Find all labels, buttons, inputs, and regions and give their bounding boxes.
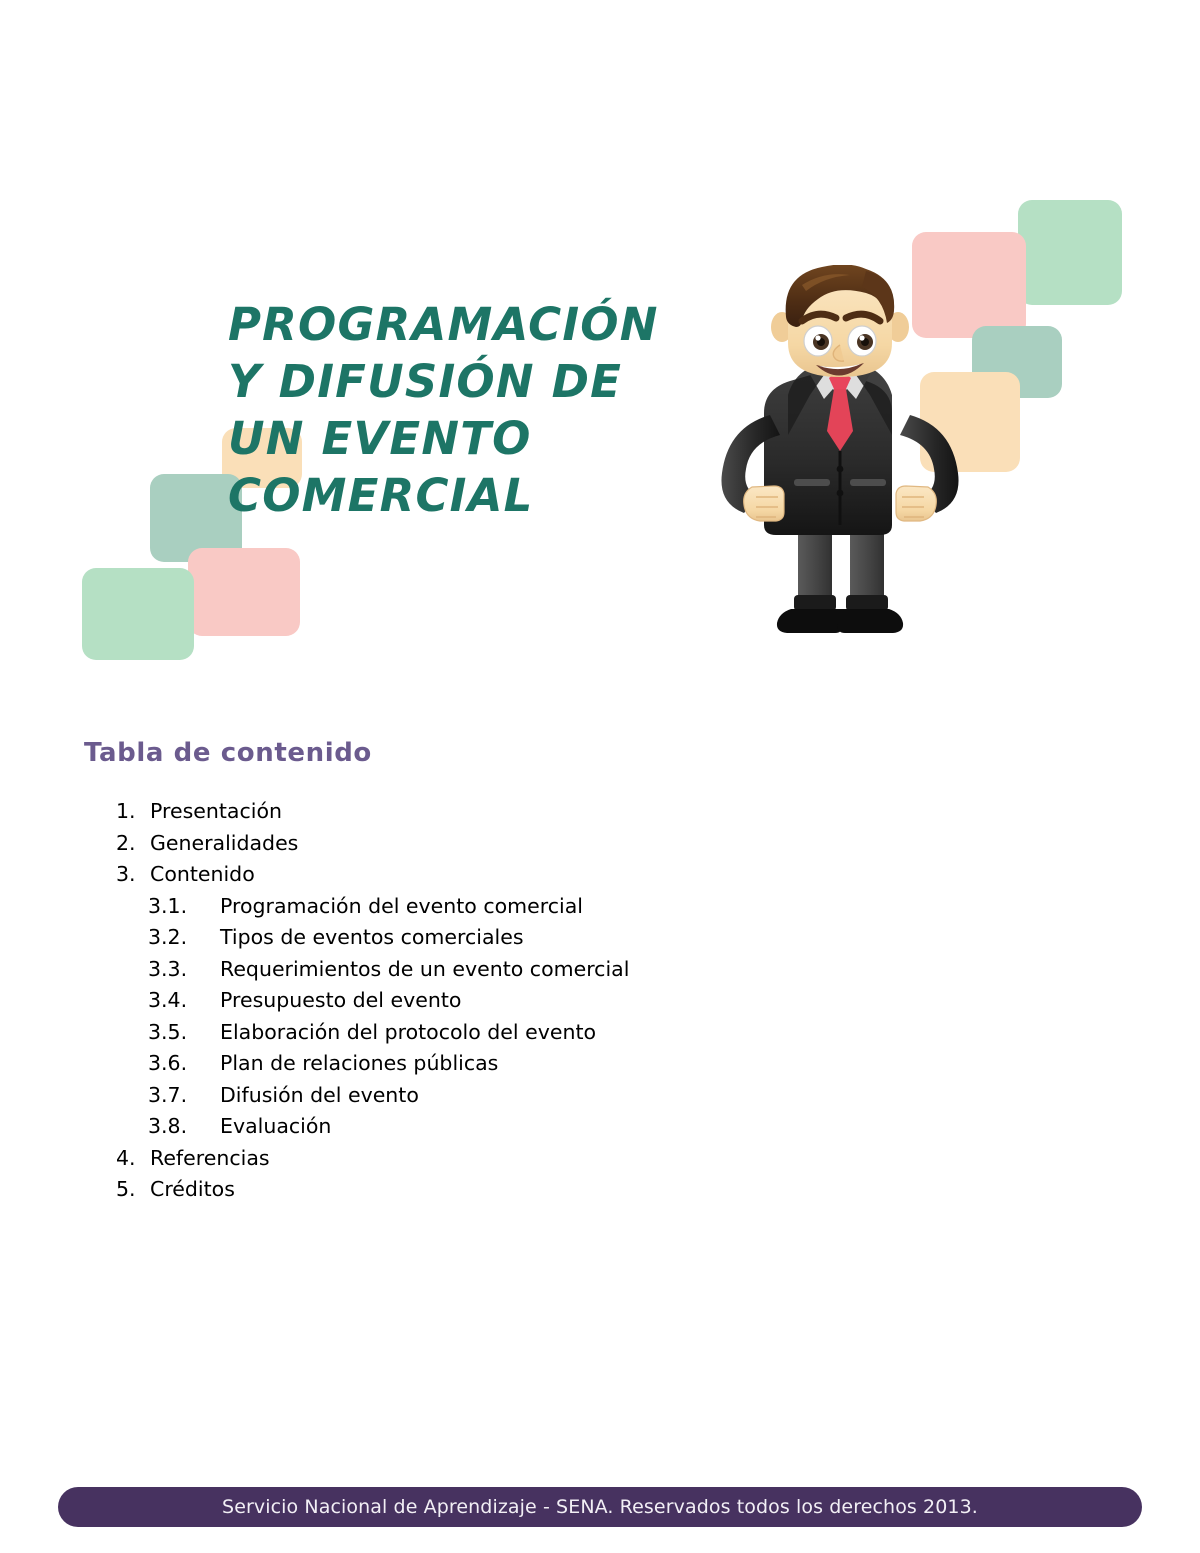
toc-item-label: Contenido bbox=[150, 859, 255, 891]
deco-square-mint-top-right bbox=[1018, 200, 1122, 305]
toc-item-label: Requerimientos de un evento comercial bbox=[220, 954, 629, 986]
toc-item-number: 3.8. bbox=[148, 1111, 220, 1143]
toc-item-label: Tipos de eventos comerciales bbox=[220, 922, 524, 954]
toc-list: 1.Presentación2.Generalidades3.Contenido… bbox=[84, 796, 1084, 1206]
toc-item-number: 3.7. bbox=[148, 1080, 220, 1112]
toc-item-label: Presentación bbox=[150, 796, 282, 828]
deco-square-pink-left bbox=[188, 548, 300, 636]
toc-heading: Tabla de contenido bbox=[84, 738, 1084, 768]
title-line-2: Y DIFUSIÓN DE bbox=[228, 353, 708, 410]
table-of-contents: Tabla de contenido 1.Presentación2.Gener… bbox=[84, 738, 1084, 1206]
toc-item-number: 3.6. bbox=[148, 1048, 220, 1080]
toc-item[interactable]: 3.7.Difusión del evento bbox=[84, 1080, 1084, 1112]
toc-item-number: 4. bbox=[116, 1143, 150, 1175]
toc-item-label: Créditos bbox=[150, 1174, 235, 1206]
footer-bar: Servicio Nacional de Aprendizaje - SENA.… bbox=[58, 1487, 1142, 1527]
toc-item-number: 2. bbox=[116, 828, 150, 860]
toc-item-number: 3.2. bbox=[148, 922, 220, 954]
hand-right bbox=[896, 486, 936, 521]
footer-copyright-text: Servicio Nacional de Aprendizaje - SENA.… bbox=[222, 1496, 978, 1518]
toc-item[interactable]: 3.5.Elaboración del protocolo del evento bbox=[84, 1017, 1084, 1049]
toc-item-label: Plan de relaciones públicas bbox=[220, 1048, 498, 1080]
toc-item-number: 1. bbox=[116, 796, 150, 828]
toc-item[interactable]: 3.8.Evaluación bbox=[84, 1111, 1084, 1143]
toc-item-number: 5. bbox=[116, 1174, 150, 1206]
shoe-left bbox=[777, 609, 843, 633]
document-page: PROGRAMACIÓN Y DIFUSIÓN DE UN EVENTO COM… bbox=[0, 0, 1200, 1553]
title-line-4: COMERCIAL bbox=[228, 467, 708, 524]
toc-item-label: Evaluación bbox=[220, 1111, 331, 1143]
deco-square-mint-left bbox=[82, 568, 194, 660]
toc-item-number: 3.3. bbox=[148, 954, 220, 986]
toc-item-label: Programación del evento comercial bbox=[220, 891, 583, 923]
shoe-right bbox=[837, 609, 903, 633]
toc-item-number: 3.4. bbox=[148, 985, 220, 1017]
toc-item[interactable]: 5.Créditos bbox=[84, 1174, 1084, 1206]
page-title: PROGRAMACIÓN Y DIFUSIÓN DE UN EVENTO COM… bbox=[228, 296, 708, 524]
toc-item-label: Difusión del evento bbox=[220, 1080, 419, 1112]
toc-item-number: 3.5. bbox=[148, 1017, 220, 1049]
title-line-3: UN EVENTO bbox=[228, 410, 708, 467]
toc-item[interactable]: 3.3.Requerimientos de un evento comercia… bbox=[84, 954, 1084, 986]
toc-item-number: 3.1. bbox=[148, 891, 220, 923]
toc-item[interactable]: 3.2.Tipos de eventos comerciales bbox=[84, 922, 1084, 954]
hand-left bbox=[744, 486, 784, 521]
toc-item-label: Generalidades bbox=[150, 828, 298, 860]
toc-item[interactable]: 3.4.Presupuesto del evento bbox=[84, 985, 1084, 1017]
toc-item[interactable]: 3.Contenido bbox=[84, 859, 1084, 891]
businessman-illustration bbox=[690, 265, 990, 645]
toc-item[interactable]: 3.1.Programación del evento comercial bbox=[84, 891, 1084, 923]
toc-item-label: Elaboración del protocolo del evento bbox=[220, 1017, 596, 1049]
toc-item[interactable]: 4.Referencias bbox=[84, 1143, 1084, 1175]
title-line-1: PROGRAMACIÓN bbox=[228, 296, 708, 353]
toc-item-label: Referencias bbox=[150, 1143, 270, 1175]
toc-item[interactable]: 2.Generalidades bbox=[84, 828, 1084, 860]
toc-item[interactable]: 1.Presentación bbox=[84, 796, 1084, 828]
toc-item-number: 3. bbox=[116, 859, 150, 891]
toc-item[interactable]: 3.6.Plan de relaciones públicas bbox=[84, 1048, 1084, 1080]
toc-item-label: Presupuesto del evento bbox=[220, 985, 461, 1017]
cover-banner: PROGRAMACIÓN Y DIFUSIÓN DE UN EVENTO COM… bbox=[0, 0, 1200, 700]
